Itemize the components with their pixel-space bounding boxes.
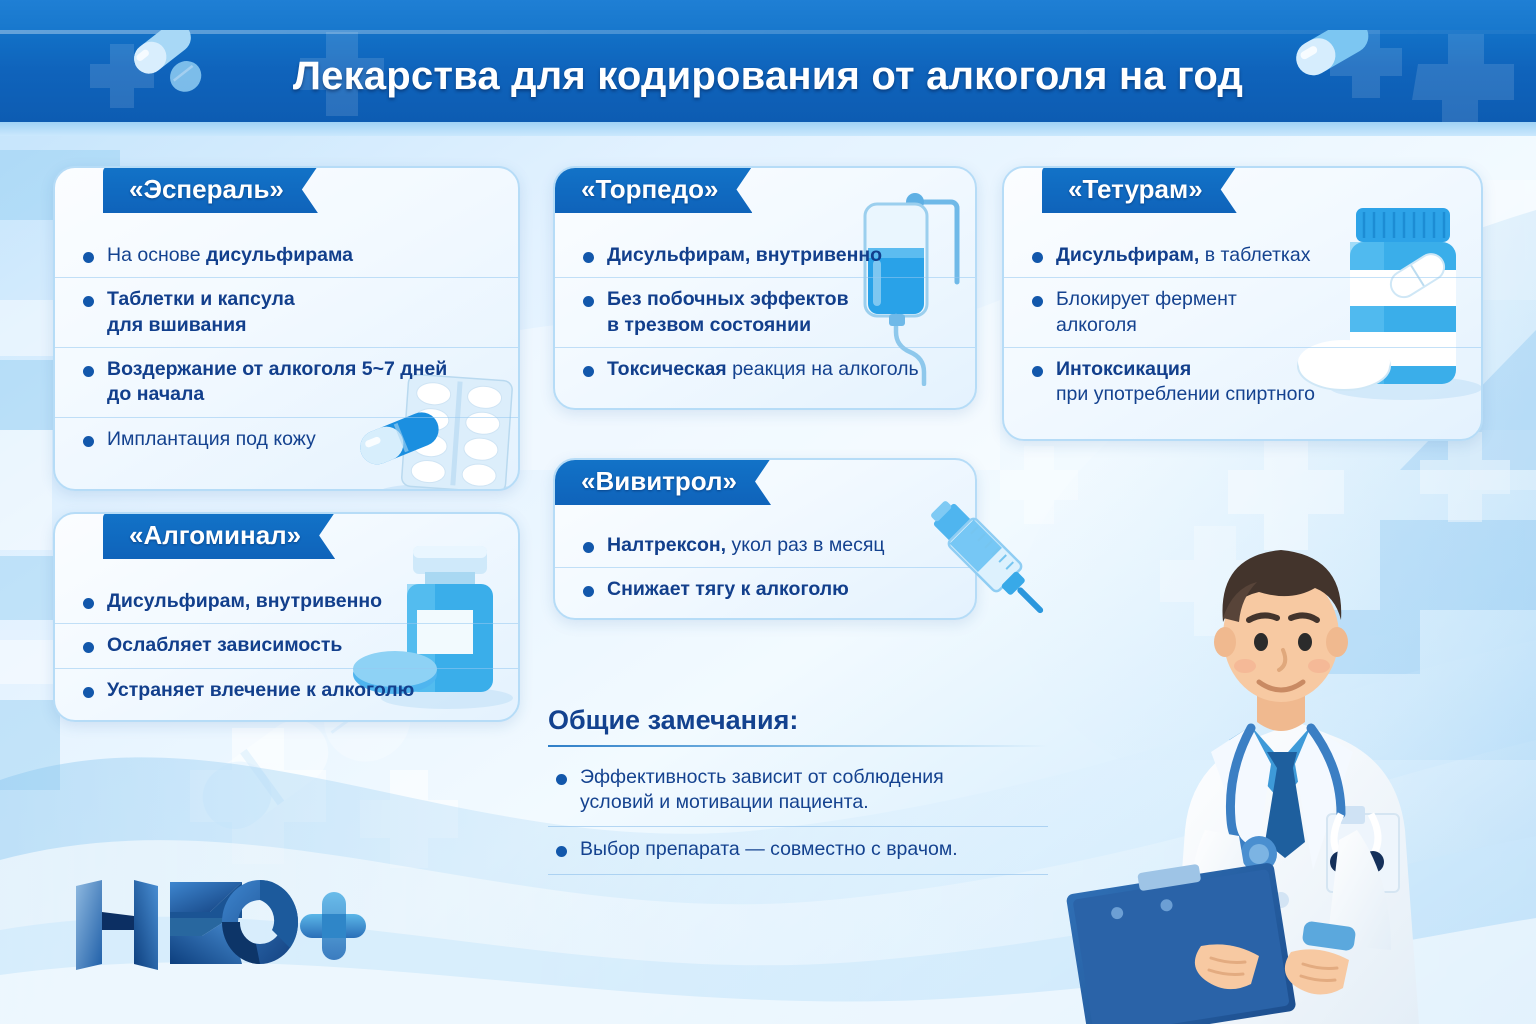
bullet-list-vivitrol: Налтрексон, укол раз в месяц Снижает тяг…	[555, 524, 975, 612]
list-item: Имплантация под кожу	[55, 417, 518, 461]
bullet-dot	[583, 366, 594, 377]
page-title: Лекарства для кодирования от алкоголя на…	[0, 30, 1536, 122]
bullet-dot	[83, 296, 94, 307]
list-item: Устраняет влечение к алкоголю	[55, 668, 518, 712]
notes-heading: Общие замечания:	[548, 705, 1048, 745]
list-item: Снижает тягу к алкоголю	[555, 567, 975, 611]
bullet-dot	[583, 252, 594, 263]
header-top-strip	[0, 0, 1536, 30]
list-item: Эффективность зависит от соблюденияуслов…	[548, 755, 1048, 826]
card-title-esperal: «Эспераль»	[103, 166, 318, 213]
bullet-list-algominal: Дисульфирам, внутривенно Ослабляет завис…	[55, 580, 518, 712]
bullet-dot	[583, 542, 594, 553]
header-bottom-strip	[0, 122, 1536, 136]
list-item: Воздержание от алкоголя 5~7 днейдо начал…	[55, 347, 518, 417]
card-torpedo: «Торпедо» Дисульфирам, внутривенно Без п…	[553, 166, 977, 410]
card-title-algominal: «Алгоминал»	[103, 512, 335, 559]
bullet-dot	[556, 774, 567, 785]
list-item: Выбор препарата — совместно с врачом.	[548, 826, 1048, 872]
neo-plus-logo	[70, 872, 370, 977]
card-title-teturam: «Тетурам»	[1042, 166, 1237, 213]
bullet-dot	[1032, 296, 1043, 307]
list-item: Без побочных эффектовв трезвом состоянии	[555, 277, 975, 347]
infographic-page: Лекарства для кодирования от алкоголя на…	[0, 0, 1536, 1024]
notes-bottom-rule	[548, 874, 1048, 875]
bullet-dot	[83, 687, 94, 698]
card-vivitrol: «Вивитрол» Налтрексон, укол раз в месяц …	[553, 458, 977, 620]
list-item: Таблетки и капсуладля вшивания	[55, 277, 518, 347]
bullet-dot	[1032, 366, 1043, 377]
card-algominal: «Алгоминал» Дисульфирам, внутривенно Осл…	[53, 512, 520, 722]
bullet-list-torpedo: Дисульфирам, внутривенно Без побочных эф…	[555, 234, 975, 391]
card-title-torpedo: «Торпедо»	[555, 166, 752, 213]
bullet-dot	[83, 252, 94, 263]
bullet-dot	[83, 642, 94, 653]
notes-divider	[548, 745, 1048, 747]
bullet-dot	[83, 366, 94, 377]
bullet-list-teturam: Дисульфирам, в таблетках Блокирует ферме…	[1004, 234, 1481, 417]
list-item: Ослабляет зависимость	[55, 623, 518, 667]
list-item: На основе дисульфирама	[55, 234, 518, 277]
bullet-dot	[83, 598, 94, 609]
bullet-dot	[556, 846, 567, 857]
bullet-dot	[583, 586, 594, 597]
bullet-dot	[583, 296, 594, 307]
list-item: Интоксикацияпри употреблении спиртного	[1004, 347, 1481, 417]
list-item: Дисульфирам, в таблетках	[1004, 234, 1481, 277]
card-title-vivitrol: «Вивитрол»	[555, 458, 771, 505]
bullet-dot	[83, 436, 94, 447]
doctor-with-clipboard-illustration	[1055, 500, 1515, 1024]
general-notes-section: Общие замечания: Эффективность зависит о…	[548, 705, 1048, 875]
card-esperal: «Эспераль» На основе дисульфирама Таблет…	[53, 166, 520, 491]
card-teturam: «Тетурам» Дисульфирам, в таблетках Блоки…	[1002, 166, 1483, 441]
list-item: Блокирует ферменталкоголя	[1004, 277, 1481, 347]
list-item: Токсическая реакция на алкоголь	[555, 347, 975, 391]
list-item: Дисульфирам, внутривенно	[55, 580, 518, 623]
list-item: Налтрексон, укол раз в месяц	[555, 524, 975, 567]
bullet-dot	[1032, 252, 1043, 263]
bullet-list-esperal: На основе дисульфирама Таблетки и капсул…	[55, 234, 518, 461]
list-item: Дисульфирам, внутривенно	[555, 234, 975, 277]
